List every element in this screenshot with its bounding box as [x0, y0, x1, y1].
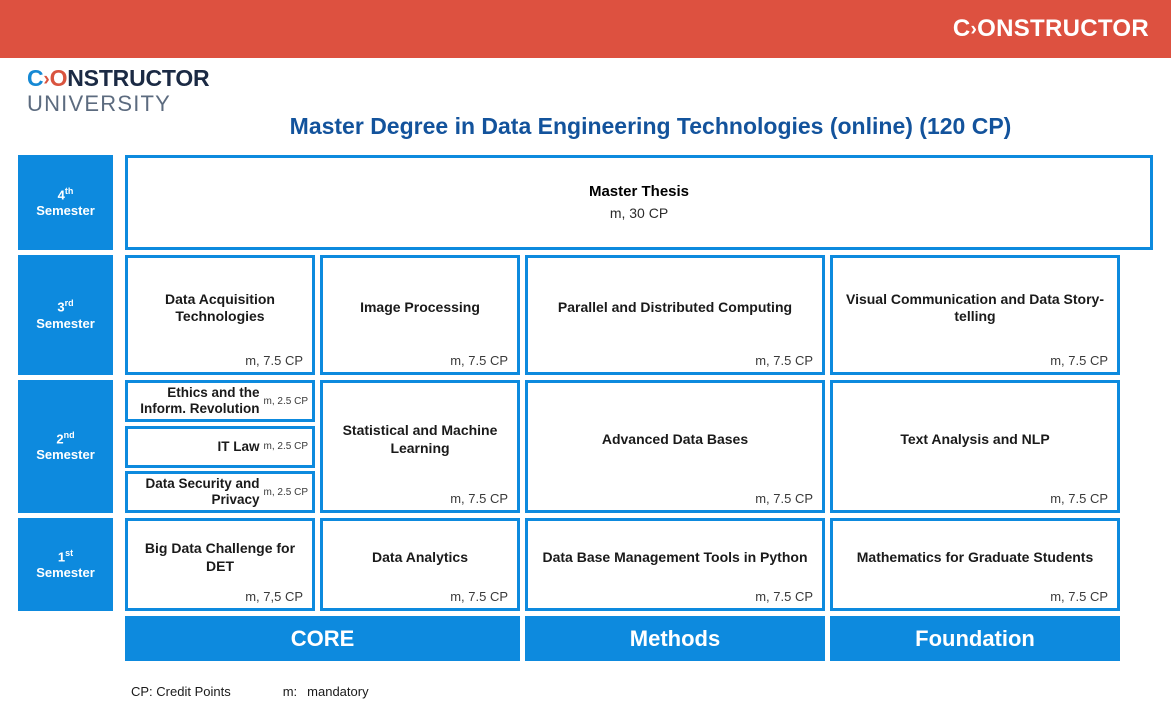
course-title: Ethics and the Inform. Revolution: [134, 385, 260, 417]
course-title: Data Base Management Tools in Python: [538, 549, 812, 567]
constructor-university-logo: C›ONSTRUCTOR UNIVERSITY: [27, 67, 209, 115]
course-body: Master Thesis m, 30 CP: [138, 181, 1140, 223]
semester-4-cells: Master Thesis m, 30 CP: [125, 155, 1153, 250]
course-credit-points: m, 7,5 CP: [245, 589, 303, 604]
semester-ordinal-1: 1st: [58, 548, 73, 566]
semester-suffix-1: st: [65, 548, 73, 558]
course-credit-points: m, 2.5 CP: [260, 441, 308, 452]
course-big-data-challenge-for-det[interactable]: Big Data Challenge for DET m, 7,5 CP: [125, 518, 315, 611]
semester-label-3: 3rd Semester: [18, 255, 113, 375]
semester-word-3: Semester: [36, 316, 95, 332]
course-data-base-management-tools-in-python[interactable]: Data Base Management Tools in Python m, …: [525, 518, 825, 611]
course-title: Data Security and Privacy: [134, 476, 260, 508]
course-title: Mathematics for Graduate Students: [843, 549, 1107, 567]
semester-label-1: 1st Semester: [18, 518, 113, 611]
logo-letter-c: C: [27, 65, 43, 91]
curriculum-grid: 4th Semester Master Thesis m, 30 CP 3rd …: [18, 155, 1153, 661]
constructor-banner-logo: C›ONSTRUCTOR: [953, 15, 1149, 43]
semester-suffix-2: nd: [64, 430, 75, 440]
course-data-acquisition-technologies[interactable]: Data Acquisition Technologies m, 7.5 CP: [125, 255, 315, 375]
legend-mandatory-value: mandatory: [307, 684, 368, 699]
semester-number-2: 2: [56, 431, 63, 446]
course-credit-points: m, 7.5 CP: [755, 353, 813, 368]
course-statistical-and-machine-learning[interactable]: Statistical and Machine Learning m, 7.5 …: [320, 380, 520, 513]
course-it-law[interactable]: IT Law m, 2.5 CP: [125, 426, 315, 468]
course-image-processing[interactable]: Image Processing m, 7.5 CP: [320, 255, 520, 375]
semester-1-cells: Big Data Challenge for DET m, 7,5 CP Dat…: [125, 518, 1153, 611]
category-methods[interactable]: Methods: [525, 616, 825, 661]
semester-number-3: 3: [57, 299, 64, 314]
category-bar-cells: CORE Methods Foundation: [125, 616, 1153, 661]
banner-logo-rest: ONSTRUCTOR: [977, 15, 1149, 42]
semester-word-2: Semester: [36, 447, 95, 463]
course-title: Data Acquisition Technologies: [138, 291, 302, 326]
semester-3-cells: Data Acquisition Technologies m, 7.5 CP …: [125, 255, 1153, 375]
course-credit-points: m, 30 CP: [138, 203, 1140, 223]
course-title: Text Analysis and NLP: [843, 431, 1107, 449]
category-foundation[interactable]: Foundation: [830, 616, 1120, 661]
course-group-electives: Ethics and the Inform. Revolution m, 2.5…: [125, 380, 315, 513]
course-title: IT Law: [218, 439, 260, 455]
page-title: Master Degree in Data Engineering Techno…: [0, 113, 1171, 140]
logo-letter-o: O: [50, 65, 68, 91]
course-title: Data Analytics: [333, 549, 507, 567]
course-title: Statistical and Machine Learning: [333, 422, 507, 457]
course-credit-points: m, 7.5 CP: [245, 353, 303, 368]
semester-row-2: 2nd Semester Ethics and the Inform. Revo…: [18, 380, 1153, 513]
course-credit-points: m, 7.5 CP: [755, 491, 813, 506]
course-master-thesis[interactable]: Master Thesis m, 30 CP: [125, 155, 1153, 250]
course-title: Big Data Challenge for DET: [138, 540, 302, 575]
course-advanced-data-bases[interactable]: Advanced Data Bases m, 7.5 CP: [525, 380, 825, 513]
course-credit-points: m, 7.5 CP: [755, 589, 813, 604]
semester-row-1: 1st Semester Big Data Challenge for DET …: [18, 518, 1153, 611]
top-banner: C›ONSTRUCTOR: [0, 0, 1171, 58]
course-visual-communication-and-data-story-telling[interactable]: Visual Communication and Data Story-tell…: [830, 255, 1120, 375]
category-bar-spacer: [18, 616, 113, 661]
course-data-analytics[interactable]: Data Analytics m, 7.5 CP: [320, 518, 520, 611]
banner-logo-c: C: [953, 15, 971, 42]
legend: CP: Credit Points m: mandatory: [131, 684, 369, 699]
course-title: Image Processing: [333, 299, 507, 317]
legend-mandatory-key: m:: [283, 684, 297, 699]
semester-ordinal-3: 3rd: [57, 298, 73, 316]
logo-letters-rest: NSTRUCTOR: [67, 65, 209, 91]
course-title: Visual Communication and Data Story-tell…: [843, 291, 1107, 326]
university-logo-subtitle: UNIVERSITY: [27, 93, 209, 115]
course-credit-points: m, 2.5 CP: [260, 396, 308, 407]
semester-suffix-4: th: [65, 186, 74, 196]
semester-row-3: 3rd Semester Data Acquisition Technologi…: [18, 255, 1153, 375]
semester-number-4: 4: [58, 187, 65, 202]
semester-word-1: Semester: [36, 565, 95, 581]
course-parallel-and-distributed-computing[interactable]: Parallel and Distributed Computing m, 7.…: [525, 255, 825, 375]
semester-word-4: Semester: [36, 203, 95, 219]
university-logo-wordmark: C›ONSTRUCTOR: [27, 67, 209, 90]
course-credit-points: m, 7.5 CP: [450, 491, 508, 506]
course-title: Advanced Data Bases: [538, 431, 812, 449]
course-credit-points: m, 2.5 CP: [260, 487, 308, 498]
course-credit-points: m, 7.5 CP: [1050, 491, 1108, 506]
course-mathematics-for-graduate-students[interactable]: Mathematics for Graduate Students m, 7.5…: [830, 518, 1120, 611]
semester-label-4: 4th Semester: [18, 155, 113, 250]
course-title: Parallel and Distributed Computing: [538, 299, 812, 317]
semester-ordinal-4: 4th: [58, 186, 74, 204]
course-credit-points: m, 7.5 CP: [450, 353, 508, 368]
semester-ordinal-2: 2nd: [56, 430, 74, 448]
course-title: Master Thesis: [138, 181, 1140, 203]
category-core[interactable]: CORE: [125, 616, 520, 661]
course-ethics-and-the-inform-revolution[interactable]: Ethics and the Inform. Revolution m, 2.5…: [125, 380, 315, 422]
semester-2-cells: Ethics and the Inform. Revolution m, 2.5…: [125, 380, 1153, 513]
legend-credit-points: CP: Credit Points: [131, 684, 231, 699]
semester-suffix-3: rd: [65, 298, 74, 308]
semester-row-4: 4th Semester Master Thesis m, 30 CP: [18, 155, 1153, 250]
course-credit-points: m, 7.5 CP: [1050, 589, 1108, 604]
semester-label-2: 2nd Semester: [18, 380, 113, 513]
course-credit-points: m, 7.5 CP: [1050, 353, 1108, 368]
category-bar: CORE Methods Foundation: [18, 616, 1153, 661]
course-text-analysis-and-nlp[interactable]: Text Analysis and NLP m, 7.5 CP: [830, 380, 1120, 513]
course-credit-points: m, 7.5 CP: [450, 589, 508, 604]
course-data-security-and-privacy[interactable]: Data Security and Privacy m, 2.5 CP: [125, 471, 315, 513]
